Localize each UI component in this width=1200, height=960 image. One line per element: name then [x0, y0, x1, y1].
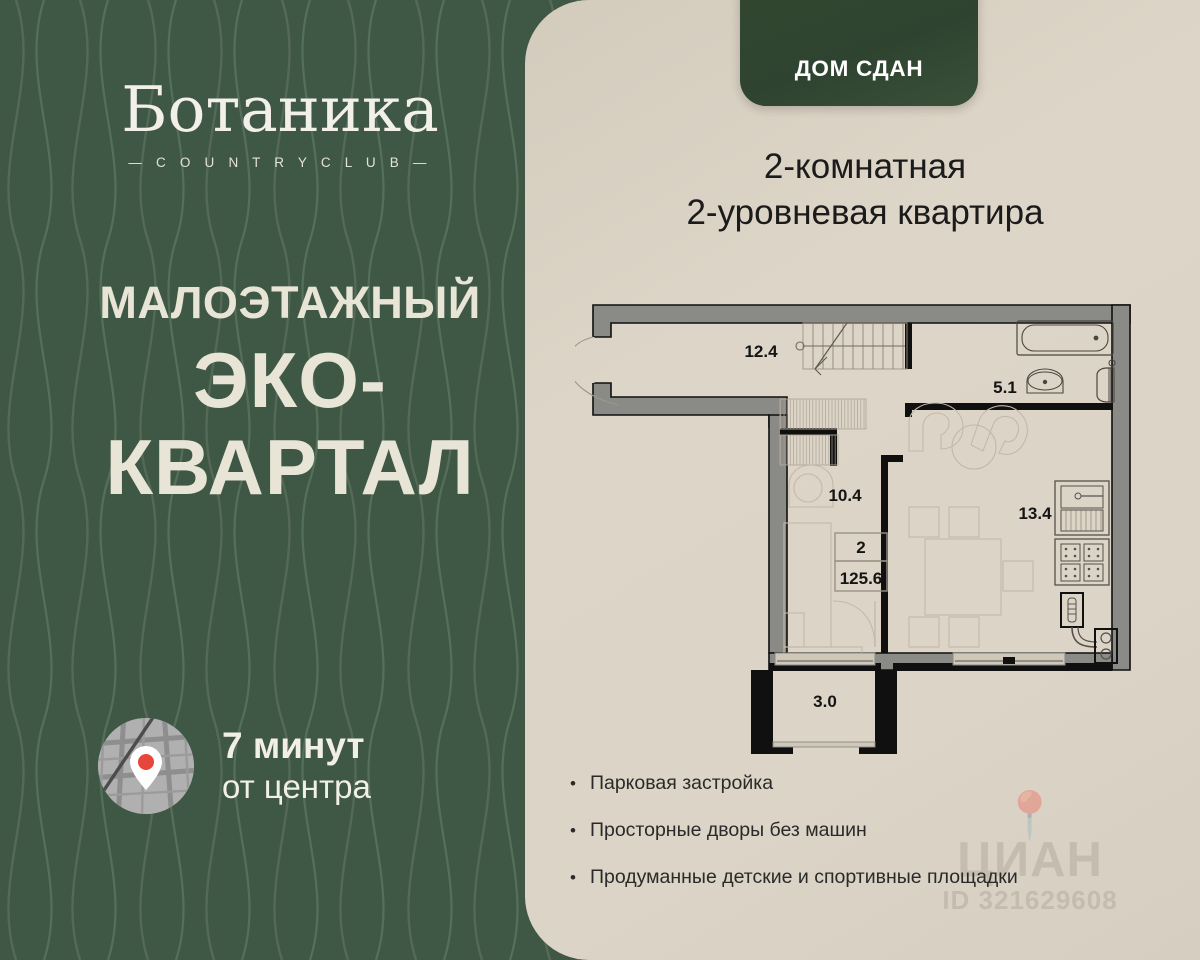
brand-tagline: — C O U N T R Y C L U B — — [60, 155, 500, 170]
floorplan-drawing: 12.4 5.1 10.4 13.4 3.0 2 125.6 — [575, 295, 1175, 755]
summary-rooms-count: 2 — [856, 538, 865, 557]
kitchen-units — [1055, 481, 1117, 663]
area-label-kitchen: 13.4 — [1018, 504, 1052, 523]
brand-name: Ботаника — [60, 78, 500, 141]
area-label-bedroom: 10.4 — [828, 486, 862, 505]
list-item: • Парковая застройка — [570, 772, 1180, 795]
bullet-icon: • — [570, 775, 576, 792]
area-label-bathroom: 5.1 — [993, 378, 1017, 397]
minutes-caption: от центра — [222, 767, 371, 807]
location-callout: 7 минут от центра — [98, 718, 371, 814]
map-pin-icon — [98, 718, 194, 814]
location-text: 7 минут от центра — [222, 725, 371, 806]
brand-logo: Ботаника — C O U N T R Y C L U B — — [60, 78, 500, 170]
staircase — [796, 323, 907, 375]
list-item: • Просторные дворы без машин — [570, 819, 1180, 842]
plan-summary-box: 2 125.6 — [835, 533, 887, 591]
bullet-icon: • — [570, 822, 576, 839]
features-list: • Парковая застройка • Просторные дворы … — [570, 772, 1180, 913]
area-label-balcony: 3.0 — [813, 692, 837, 711]
bathroom-fixtures — [1017, 321, 1115, 402]
living-furniture — [909, 403, 1033, 647]
page-title: 2-комнатная 2-уровневая квартира — [545, 144, 1185, 235]
summary-total-area: 125.6 — [840, 569, 883, 588]
plan-title-line-1: 2-комнатная — [545, 144, 1185, 190]
minutes-value: 7 минут — [222, 725, 371, 766]
plan-title-line-2: 2-уровневая квартира — [545, 190, 1185, 236]
status-badge: ДОМ СДАН — [740, 0, 978, 106]
headline-line-1: МАЛОЭТАЖНЫЙ — [40, 280, 540, 325]
area-label-hall: 12.4 — [744, 342, 778, 361]
advertisement-banner: Ботаника — C O U N T R Y C L U B — МАЛОЭ… — [0, 0, 1200, 960]
headline: МАЛОЭТАЖНЫЙ ЭКО- КВАРТАЛ — [40, 280, 540, 512]
feature-text: Просторные дворы без машин — [590, 819, 867, 842]
status-badge-label: ДОМ СДАН — [795, 56, 924, 82]
headline-line-3: КВАРТАЛ — [40, 424, 540, 511]
list-item: • Продуманные детские и спортивные площа… — [570, 866, 1180, 889]
bullet-icon: • — [570, 869, 576, 886]
headline-line-2: ЭКО- — [40, 337, 540, 424]
feature-text: Продуманные детские и спортивные площадк… — [590, 866, 1018, 889]
feature-text: Парковая застройка — [590, 772, 773, 795]
